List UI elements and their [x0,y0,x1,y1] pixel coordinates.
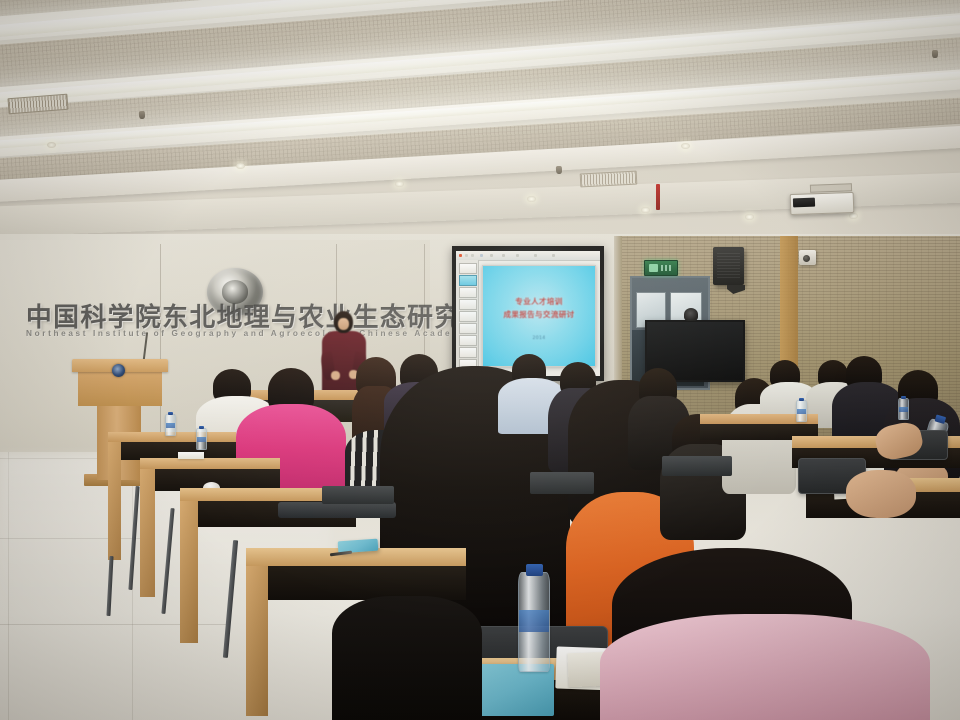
slide-thumbnail[interactable] [459,299,477,310]
slide-thumbnail[interactable] [459,335,477,346]
paper-sheet [178,452,204,459]
water-bottle [165,414,176,436]
chair-back[interactable] [530,472,594,494]
slide-title-line2: 成果报告与交流研讨 [483,309,595,320]
slide-title-line1: 专业人才培训 [483,296,595,307]
sprinkler-icon-2 [932,50,938,58]
slide-thumbnail-active[interactable] [459,275,477,286]
downlight-icon-7 [745,214,754,220]
slide-thumbnail[interactable] [459,347,477,358]
webcam-icon [684,308,698,321]
podium-emblem-icon [112,364,125,377]
ceiling [0,0,960,250]
water-bottle [518,572,550,672]
downlight-icon-6 [681,143,690,149]
slide-thumbnail-panel[interactable] [456,260,479,376]
downlight-icon-8 [849,213,858,219]
projector-lens [793,198,815,208]
presenter-face [338,318,349,330]
downlight-icon-3 [395,181,404,187]
sprinkler-icon-3 [556,166,562,174]
wall-speaker-icon [713,247,744,285]
desk-front [246,566,466,600]
wall-seam-1 [160,244,161,444]
podium-body [78,372,162,406]
downlight-icon-5 [641,207,650,213]
chair-back[interactable] [322,486,394,504]
wall-camera-icon [799,250,816,265]
slide-thumbnail[interactable] [459,263,477,274]
current-slide: 专业人才培训 成果报告与交流研讨 2014 [482,265,596,367]
water-bottle [196,428,207,450]
slide-subtitle: 2014 [483,336,595,341]
chair-back[interactable] [278,502,396,518]
chair-back[interactable] [662,456,732,476]
water-bottle [796,400,807,422]
sprinkler-icon [139,111,146,119]
foreground-audience-hand [846,470,916,518]
water-bottle [898,398,909,420]
exit-sign-icon [644,260,678,276]
slide-thumbnail[interactable] [459,311,477,322]
desk-side-panel [246,566,268,716]
downlight-icon-4 [527,196,536,202]
slide-thumbnail[interactable] [459,287,477,298]
foreground-audience-torso-pink [600,614,930,720]
presenter-hand-left [331,371,340,380]
downlight-icon-2 [236,163,245,169]
downlight-icon-1 [47,142,56,148]
institute-name-english: Northeast Institute of Geography and Agr… [26,328,426,338]
desk-side-panel [180,501,198,643]
desk-top [140,458,280,469]
desk-side-panel [140,469,155,597]
red-conduit [656,184,660,210]
desk-side-panel [108,442,121,560]
lecture-hall-photo: 中国科学院东北地理与农业生态研究所 Northeast Institute of… [0,0,960,720]
foreground-audience-torso [332,596,482,720]
air-vent-icon-2 [580,171,638,188]
slide-thumbnail[interactable] [459,323,477,334]
